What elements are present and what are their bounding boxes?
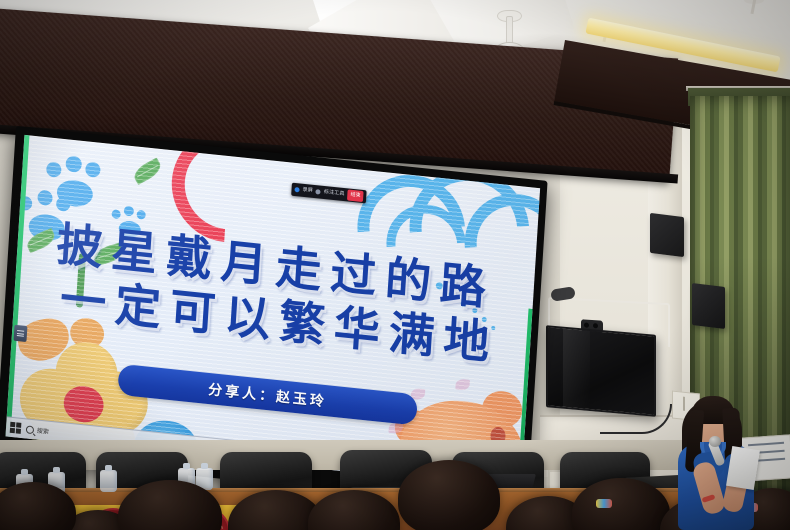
printed-script (726, 446, 760, 490)
recorder-separator-dot (316, 189, 321, 195)
female-presenter (672, 392, 758, 530)
webcam-lens (584, 322, 589, 327)
conference-hall-photo: 披星戴月走过的路 一定可以繁华满地 分享人：赵玉玲 录屏 标注工具 结束 (0, 0, 790, 530)
search-icon (26, 425, 34, 434)
recorder-stop-button[interactable]: 结束 (347, 189, 364, 202)
handle-line (17, 330, 24, 332)
hair-clip (596, 499, 612, 508)
start-button-icon[interactable] (10, 422, 22, 434)
search-placeholder: 搜索 (37, 426, 50, 436)
microphone-head (709, 436, 721, 447)
handle-line (17, 333, 24, 335)
screen-menu-handle[interactable] (14, 325, 28, 342)
wall-speaker-middle (692, 283, 725, 329)
wall-speaker-upper (650, 213, 684, 257)
webcam-lens (593, 323, 598, 328)
recorder-label-1[interactable]: 录屏 (302, 184, 313, 198)
water-bottle (100, 470, 117, 492)
green-leaf-icon (131, 157, 164, 184)
taskbar-search[interactable]: 搜索 (26, 424, 49, 435)
taskbar-left-group: 搜索 (6, 421, 50, 436)
falling-petal (455, 378, 470, 390)
handle-line (17, 335, 24, 337)
recorder-label-2[interactable]: 标注工具 (323, 186, 345, 201)
presenter-name-pill: 分享人：赵玉玲 (117, 364, 418, 426)
presenter-name-text: 分享人：赵玉玲 (208, 378, 328, 410)
screen-surface[interactable]: 披星戴月走过的路 一定可以繁华满地 分享人：赵玉玲 录屏 标注工具 结束 (5, 135, 540, 490)
recorder-status-dot (294, 187, 299, 193)
audience-head (398, 460, 500, 530)
